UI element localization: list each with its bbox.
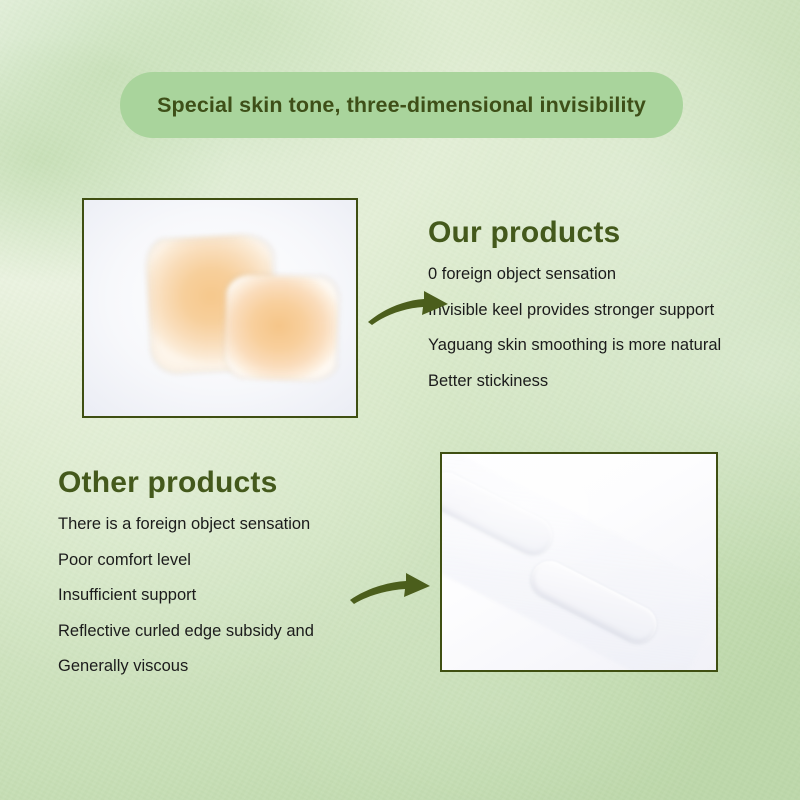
silicone-pad-right-edge	[221, 271, 342, 383]
list-item: Invisible keel provides stronger support	[428, 302, 721, 319]
other-product-photo	[440, 452, 718, 672]
our-product-photo	[82, 198, 358, 418]
other-product-photo-backdrop	[442, 454, 716, 670]
our-products-list: 0 foreign object sensation Invisible kee…	[428, 266, 721, 408]
headline-banner: Special skin tone, three-dimensional inv…	[120, 72, 683, 138]
list-item: Poor comfort level	[58, 552, 314, 569]
curved-arrow-left-icon	[348, 562, 434, 614]
other-products-list: There is a foreign object sensation Poor…	[58, 516, 314, 694]
curved-arrow-right-icon	[366, 282, 452, 334]
headline-text: Special skin tone, three-dimensional inv…	[157, 93, 646, 118]
list-item: Reflective curled edge subsidy and	[58, 623, 314, 640]
photo-highlight	[442, 454, 716, 670]
list-item: Better stickiness	[428, 373, 721, 390]
our-products-heading: Our products	[428, 216, 620, 250]
list-item: 0 foreign object sensation	[428, 266, 721, 283]
promo-page: Special skin tone, three-dimensional inv…	[0, 0, 800, 800]
list-item: Yaguang skin smoothing is more natural	[428, 337, 721, 354]
our-product-photo-backdrop	[84, 200, 356, 416]
list-item: Generally viscous	[58, 658, 314, 675]
other-products-heading: Other products	[58, 466, 277, 500]
list-item: There is a foreign object sensation	[58, 516, 314, 533]
list-item: Insufficient support	[58, 587, 314, 604]
